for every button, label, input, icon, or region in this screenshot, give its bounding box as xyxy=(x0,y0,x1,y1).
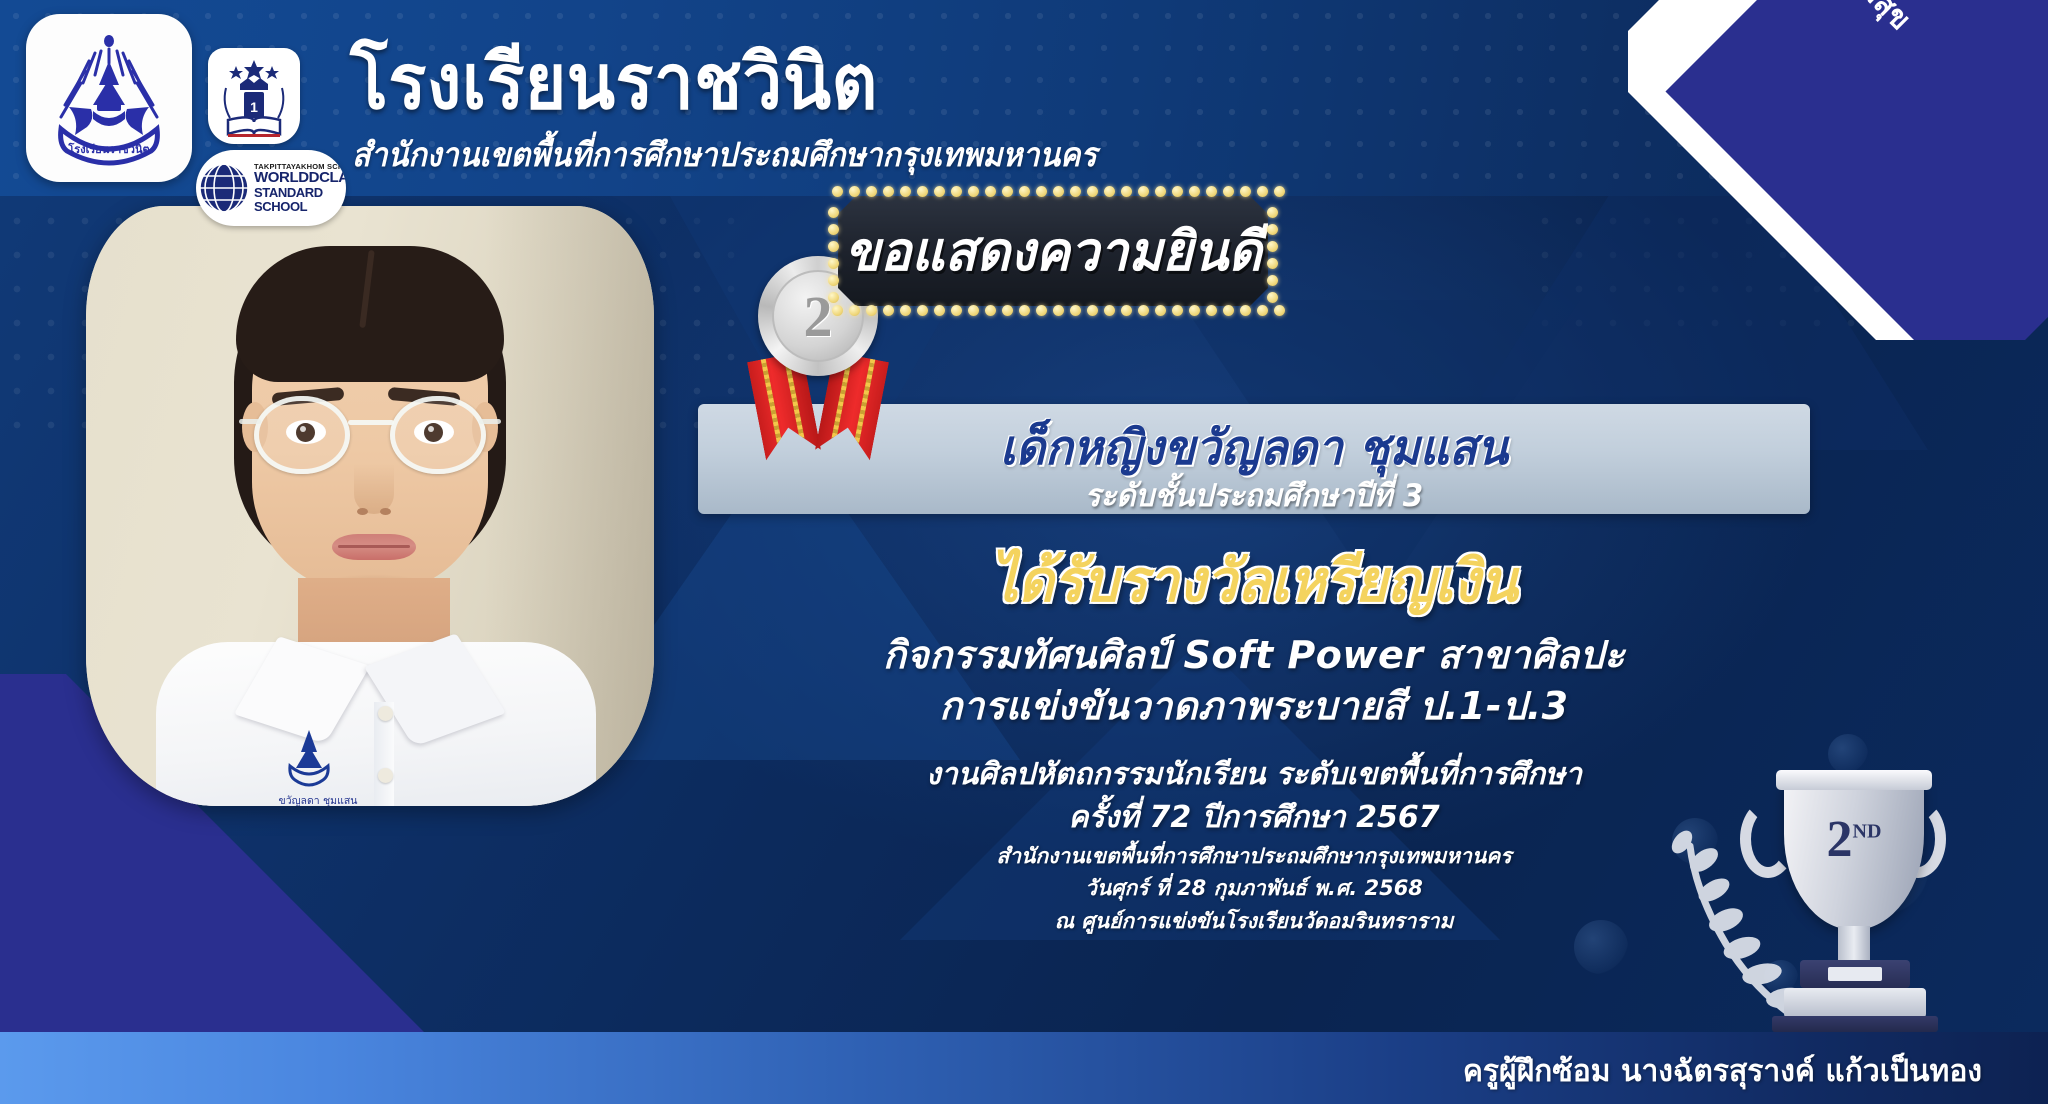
trophy-stem xyxy=(1838,926,1870,962)
banner-dot-light xyxy=(1155,305,1166,316)
banner-dot-light xyxy=(1267,258,1278,269)
crest-icon: โรงเรียนราชวินิต xyxy=(39,23,179,173)
banner-dot-light xyxy=(1274,305,1285,316)
glasses-bridge xyxy=(348,420,394,425)
banner-dot-light xyxy=(1267,207,1278,218)
svg-text:โรงเรียนราชวินิต: โรงเรียนราชวินิต xyxy=(67,142,149,156)
nose xyxy=(354,464,394,514)
lens-left xyxy=(254,396,350,474)
shirt-button xyxy=(378,706,393,721)
student-grade: ระดับชั้นประถมศึกษาปีที่ 3 xyxy=(726,470,1782,520)
banner-dot-light xyxy=(900,305,911,316)
shirt-button xyxy=(378,768,393,783)
detail-line-2: การแข่งขันวาดภาพระบายสี ป.1-ป.3 xyxy=(698,681,1810,732)
banner-dot-light xyxy=(1070,305,1081,316)
ribbon-gold-stripe xyxy=(851,359,875,458)
nostril-right xyxy=(380,508,391,515)
banner-dot-light xyxy=(985,305,996,316)
mouth xyxy=(332,534,416,560)
banner-dot-light xyxy=(968,305,979,316)
takpittayakhom-badge: 1 xyxy=(208,48,300,144)
banner-dot-light xyxy=(1053,305,1064,316)
banner-dot-light xyxy=(828,207,839,218)
office-name: สำนักงานเขตพื้นที่การศึกษาประถมศึกษากรุง… xyxy=(352,128,1097,181)
banner-dot-light xyxy=(1189,305,1200,316)
detail-line-7: ณ ศูนย์การแข่งขันโรงเรียนวัดอมรินทราราม xyxy=(698,905,1810,938)
trophy-rank-number: 2 xyxy=(1827,811,1853,868)
banner-dot-light xyxy=(1002,305,1013,316)
banner-dot-light xyxy=(1267,292,1278,303)
banner-dot-light xyxy=(1267,241,1278,252)
trophy-base-bottom xyxy=(1772,1016,1938,1032)
uniform-crest-svg xyxy=(282,726,336,788)
banner-dot-light xyxy=(1267,224,1278,235)
banner-dot-light xyxy=(1257,305,1268,316)
trophy-base-plate xyxy=(1800,960,1910,988)
banner-dot-light xyxy=(1104,305,1115,316)
banner-dot-light xyxy=(934,305,945,316)
lens-right xyxy=(390,396,486,474)
uniform-crest-icon xyxy=(282,726,336,788)
congratulations-text: ขอแสดงความยินดี xyxy=(844,208,1261,294)
award-headline: ได้รับรางวัลเหรียญเงิน xyxy=(726,534,1782,627)
detail-line-1: กิจกรรมทัศนศิลป์ Soft Power สาขาศิลปะ xyxy=(698,630,1810,681)
banner-dot-light xyxy=(1240,305,1251,316)
wcs-divider: D xyxy=(309,169,319,186)
nostril-left xyxy=(357,508,368,515)
trophy-base-mid xyxy=(1784,988,1926,1018)
banner-dot-light xyxy=(1223,305,1234,316)
banner-dot-light xyxy=(1019,305,1030,316)
award-details: กิจกรรมทัศนศิลป์ Soft Power สาขาศิลปะ กา… xyxy=(698,630,1810,937)
trophy-rank-suffix: ND xyxy=(1853,821,1882,843)
school-badges: 1 xyxy=(200,48,308,144)
banner-dot-light xyxy=(1036,305,1047,316)
banner-dot-light xyxy=(1206,305,1217,316)
detail-spacer xyxy=(698,733,1810,753)
banner-dot-light xyxy=(1267,275,1278,286)
banner-dot-light xyxy=(1138,305,1149,316)
globe-icon xyxy=(196,159,252,217)
wcs-line-2b: CLASS xyxy=(319,169,346,186)
banner-dot-light xyxy=(917,305,928,316)
banner-dot-light xyxy=(828,241,839,252)
footer-bar: ครูผู้ฝึกซ้อม นางฉัตรสุรางค์ แก้วเป็นทอง xyxy=(0,1032,2048,1104)
banner-dot-light xyxy=(951,305,962,316)
banner-dot-light xyxy=(1087,305,1098,316)
detail-line-5: สำนักงานเขตพื้นที่การศึกษาประถมศึกษากรุง… xyxy=(698,840,1810,873)
detail-line-4: ครั้งที่ 72 ปีการศึกษา 2567 xyxy=(698,796,1810,840)
coach-credit: ครูผู้ฝึกซ้อม นางฉัตรสุรางค์ แก้วเป็นทอง xyxy=(1463,1048,1982,1095)
corner-ribbon: ☺ เรียนดี มีความสุข xyxy=(1628,0,2048,340)
student-photo: ขวัญลดา ชุมแสน xyxy=(86,206,654,806)
certificate-poster: โรงเรียนราชวินิต 1 xyxy=(0,0,2048,1104)
detail-line-3: งานศิลปหัตถกรรมนักเรียน ระดับเขตพื้นที่ก… xyxy=(698,753,1810,797)
temple-left xyxy=(239,419,261,424)
uniform-name-embroidery: ขวัญลดา ชุมแสน xyxy=(258,792,378,806)
student-photo-illustration: ขวัญลดา ชุมแสน xyxy=(86,206,654,806)
svg-text:1: 1 xyxy=(250,99,258,115)
wcs-line-3b: SCHOOL xyxy=(254,199,307,214)
school-crest-logo: โรงเรียนราชวินิต xyxy=(26,14,192,182)
temple-right xyxy=(479,419,501,424)
glasses-icon xyxy=(254,396,486,474)
world-class-standard-badge: TAKPITTAYAKHOM SCHOOL WORLDDCLASS STANDA… xyxy=(196,150,346,226)
banner-dot-light xyxy=(828,224,839,235)
banner-dot-light xyxy=(1172,305,1183,316)
detail-line-6: วันศุกร์ ที่ 28 กุมภาพันธ์ พ.ศ. 2568 xyxy=(698,872,1810,905)
wcs-text-block: TAKPITTAYAKHOM SCHOOL WORLDDCLASS STANDA… xyxy=(252,163,346,214)
banner-dot-light xyxy=(1121,305,1132,316)
page-title: โรงเรียนราชวินิต xyxy=(350,22,878,142)
crown-book-icon: 1 xyxy=(214,52,294,140)
ribbon-gold-stripe xyxy=(761,359,785,458)
congratulations-banner: ขอแสดงความยินดี xyxy=(838,196,1268,306)
wcs-line-2: WORLD xyxy=(254,169,309,186)
